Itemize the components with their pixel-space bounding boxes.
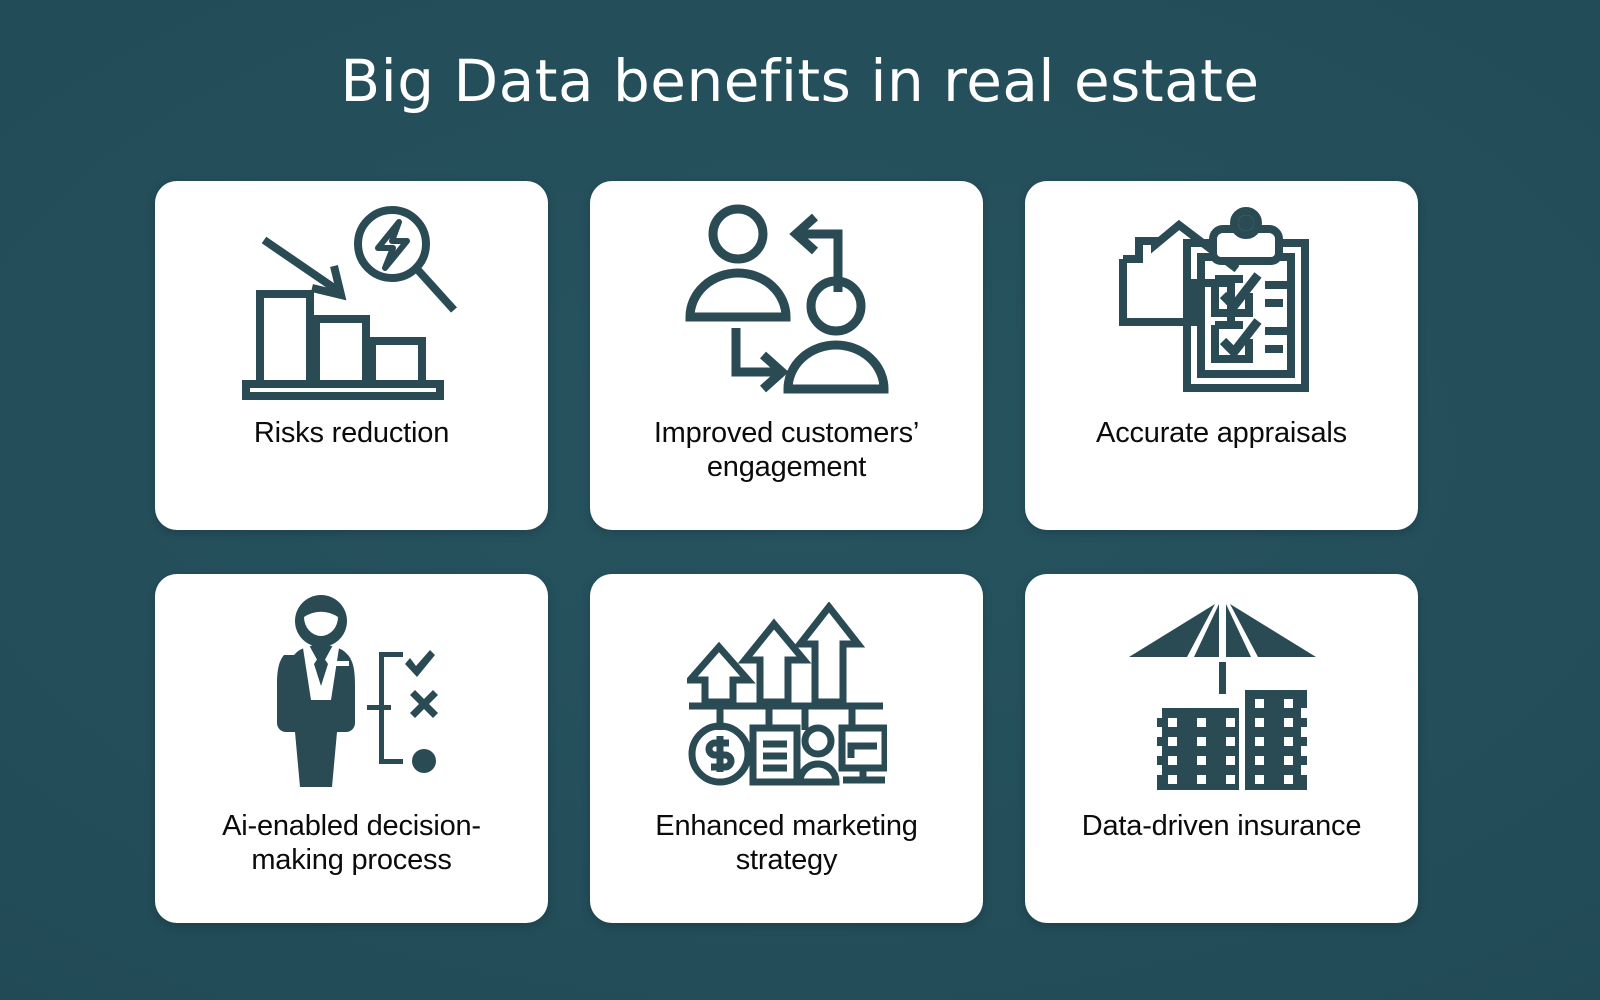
benefit-card-enhanced-marketing-strategy[interactable]: Enhanced marketing strategy [590,574,983,923]
house-clipboard-checklist-icon [1025,181,1418,416]
benefit-card-improved-customers-engagement[interactable]: Improved customers’ engagement [590,181,983,530]
benefit-card-label: Accurate appraisals [1057,416,1387,450]
infographic-poster: Big Data benefits in real estate [0,0,1600,1000]
benefits-grid: Risks reduction [155,181,1418,923]
benefit-card-label: Improved customers’ engagement [622,416,952,484]
benefit-card-accurate-appraisals[interactable]: Accurate appraisals [1025,181,1418,530]
page-title: Big Data benefits in real estate [0,52,1600,110]
benefit-card-label: Data-driven insurance [1057,809,1387,843]
businessman-decision-branch-icon [155,574,548,809]
two-people-exchange-arrows-icon [590,181,983,416]
benefit-card-risks-reduction[interactable]: Risks reduction [155,181,548,530]
benefit-card-label: Ai-enabled decision-making process [187,809,517,877]
umbrella-over-buildings-icon [1025,574,1418,809]
growth-arrows-channels-icon [590,574,983,809]
benefit-card-data-driven-insurance[interactable]: Data-driven insurance [1025,574,1418,923]
benefit-card-ai-enabled-decision-making[interactable]: Ai-enabled decision-making process [155,574,548,923]
benefit-card-label: Enhanced marketing strategy [622,809,952,877]
benefit-card-label: Risks reduction [187,416,517,450]
declining-bar-chart-magnifier-icon [155,181,548,416]
